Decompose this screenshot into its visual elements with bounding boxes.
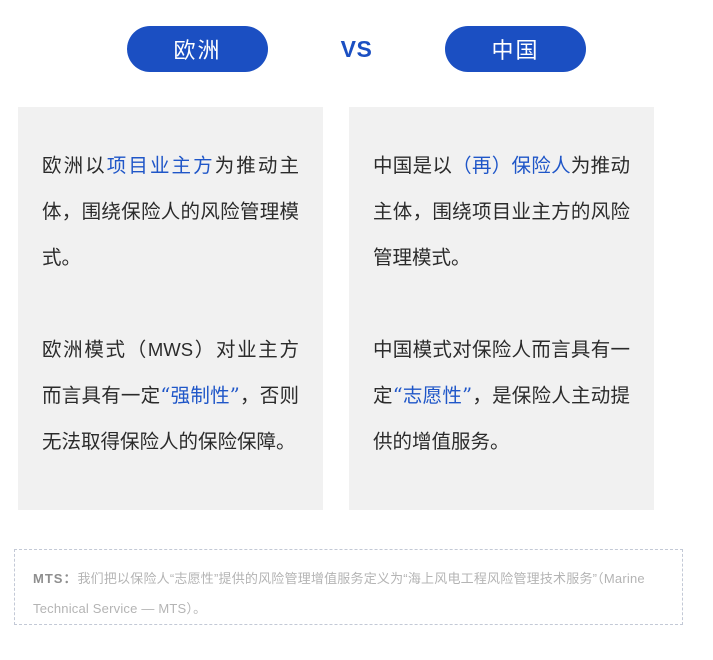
card-europe-paragraph-2: 欧洲模式（MWS）对业主方而言具有一定“强制性”，否则无法取得保险人的保险保障。 (42, 327, 299, 465)
text-segment-1: 项目业主方 (107, 154, 215, 177)
text-segment-3: “强制性” (160, 384, 239, 407)
card-china-paragraph-1: 中国是以（再）保险人为推动主体，围绕项目业主方的风险管理模式。 (373, 143, 630, 281)
text-segment-1: （再）保险人 (452, 154, 571, 177)
footnote-tag: MTS： (33, 571, 77, 586)
footnote-box: MTS：我们把以保险人“志愿性”提供的风险管理增值服务定义为“海上风电工程风险管… (14, 549, 683, 625)
pill-china-label: 中国 (491, 33, 539, 65)
pill-china[interactable]: 中国 (445, 26, 586, 72)
card-europe-paragraph-1: 欧洲以项目业主方为推动主体，围绕保险人的风险管理模式。 (42, 143, 299, 281)
vs-label: VS (268, 36, 445, 63)
comparison-cards: 欧洲以项目业主方为推动主体，围绕保险人的风险管理模式。 欧洲模式（MWS）对业主… (18, 107, 654, 510)
footnote-body: 我们把以保险人“志愿性”提供的风险管理增值服务定义为“海上风电工程风险管理技术服… (33, 571, 645, 616)
text-segment-0: 欧洲以 (42, 154, 107, 177)
card-china: 中国是以（再）保险人为推动主体，围绕项目业主方的风险管理模式。 中国模式对保险人… (349, 107, 654, 510)
card-china-paragraph-2: 中国模式对保险人而言具有一定“志愿性”，是保险人主动提供的增值服务。 (373, 327, 630, 465)
text-segment-1: MWS (148, 339, 193, 360)
comparison-header: 欧洲 VS 中国 (0, 26, 713, 72)
text-segment-1: “志愿性” (393, 384, 472, 407)
footnote-text: MTS：我们把以保险人“志愿性”提供的风险管理增值服务定义为“海上风电工程风险管… (33, 564, 664, 624)
text-segment-0: 中国是以 (373, 154, 452, 177)
text-segment-0: 欧洲模式（ (42, 338, 148, 361)
pill-europe-label: 欧洲 (173, 33, 221, 65)
card-europe: 欧洲以项目业主方为推动主体，围绕保险人的风险管理模式。 欧洲模式（MWS）对业主… (18, 107, 323, 510)
pill-europe[interactable]: 欧洲 (127, 26, 268, 72)
